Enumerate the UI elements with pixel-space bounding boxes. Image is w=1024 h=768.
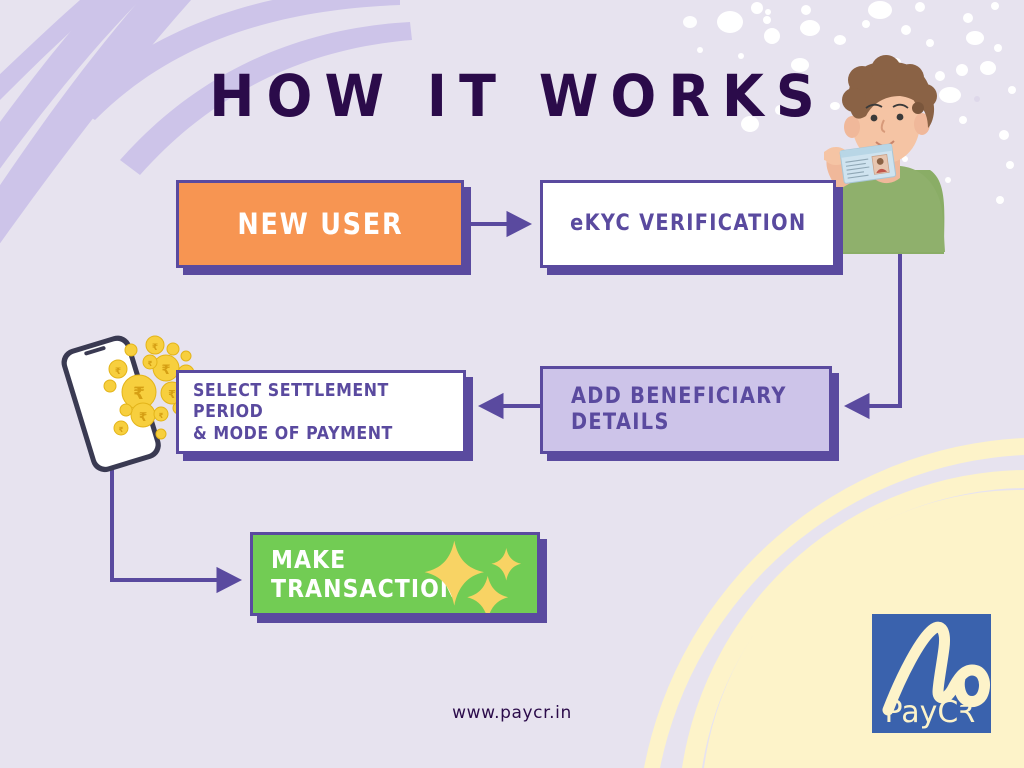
flow-step-select-settlement-line1: SELECT SETTLEMENT PERIOD [193,380,431,422]
svg-text:₹: ₹ [161,363,170,378]
flow-step-select-settlement-line2: & MODE OF PAYMENT [193,423,431,444]
arrow-settlement-to-make-transaction [112,440,238,580]
flow-step-add-beneficiary-text: ADD BENEFICIARY DETAILS [571,384,816,436]
footer-website-url[interactable]: www.paycr.in [0,703,1024,723]
sparkle-stars-icon [411,535,531,613]
flow-step-new-user-label: NEW USER [237,207,403,241]
flow-step-ekyc-verification[interactable]: eKYC VERIFICATION [540,180,836,268]
svg-text:₹: ₹ [168,388,176,401]
svg-text:₹: ₹ [115,367,121,377]
flow-step-select-settlement[interactable]: SELECT SETTLEMENT PERIOD & MODE OF PAYME… [176,370,466,454]
paycr-logo-wordmark: PayC₹ [885,695,978,730]
svg-text:₹: ₹ [139,410,147,424]
flow-step-make-transaction[interactable]: MAKE TRANSACTION [250,532,540,616]
arrow-ekyc-to-add-beneficiary [838,223,900,406]
svg-text:₹: ₹ [133,384,145,404]
svg-text:₹: ₹ [148,360,153,368]
svg-text:₹: ₹ [152,343,158,353]
how-it-works-infographic: ₹ ₹ ₹ ₹ ₹ ₹ ₹ ₹ ₹ ₹ NEW USER eKYC VERIFI… [0,0,1024,768]
flow-step-new-user[interactable]: NEW USER [176,180,464,268]
flow-step-add-beneficiary-details[interactable]: ADD BENEFICIARY DETAILS [540,366,832,454]
flow-step-select-settlement-text: SELECT SETTLEMENT PERIOD & MODE OF PAYME… [193,380,463,444]
svg-text:₹: ₹ [119,426,124,434]
flow-step-add-beneficiary-line2: DETAILS [571,410,787,436]
svg-text:₹: ₹ [159,412,164,420]
paycr-logo[interactable]: PayC₹ [872,614,991,733]
page-title: HOW IT WORKS [36,62,988,130]
flow-step-ekyc-verification-label: eKYC VERIFICATION [570,211,806,237]
flow-step-add-beneficiary-line1: ADD BENEFICIARY [571,384,787,410]
